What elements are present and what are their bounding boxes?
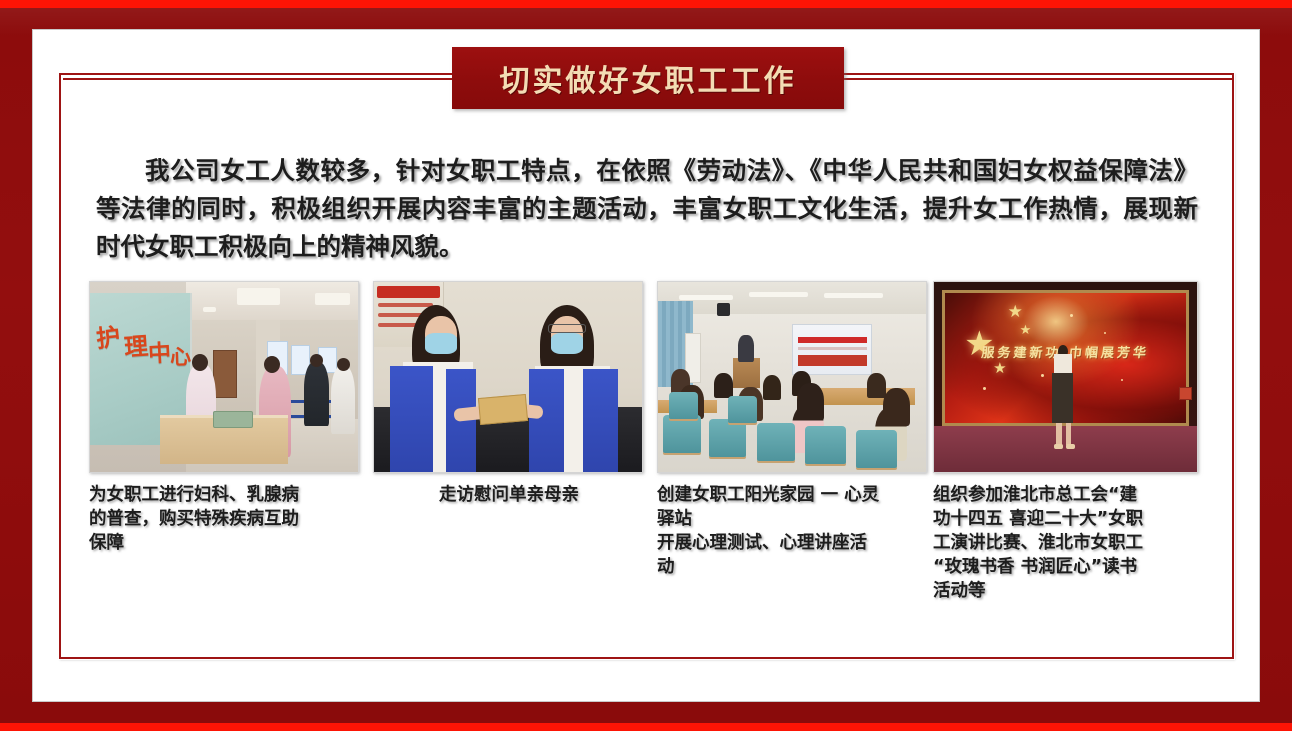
attendee <box>867 373 886 398</box>
chair <box>856 430 896 468</box>
screen-line <box>798 347 867 349</box>
chair <box>757 423 795 461</box>
ceiling-light <box>315 293 350 304</box>
photo-speech-contest: ★ ★ ★ ★ 服务建新功 巾帼展芳华 <box>933 281 1198 473</box>
slide-root: 切实做好女职工工作 我公司女工人数较多，针对女职工特点，在依照《劳动法》、《中华… <box>0 0 1292 731</box>
person-right-vest <box>529 369 564 472</box>
scene-text-char-4: 心 <box>169 340 191 371</box>
door <box>213 350 237 398</box>
scene-text-char-3: 中 <box>147 334 172 369</box>
photo-health-screening: 护 理 中 心 <box>89 281 359 473</box>
attendee <box>763 375 782 400</box>
photo-psychology-lecture <box>657 281 927 473</box>
ceiling-light <box>749 292 808 297</box>
ceiling-light <box>679 295 733 300</box>
star-icon: ★ <box>1008 303 1023 320</box>
chair <box>805 426 845 464</box>
sparkle <box>983 387 986 390</box>
banner-red-strip <box>377 286 440 298</box>
photo-caption-3: 创建女职工阳光家园 一 心灵 驿站 开展心理测试、心理讲座活 动 <box>657 483 929 579</box>
attendee <box>714 373 733 398</box>
banner-line <box>378 303 433 307</box>
performer-shoe <box>1054 444 1063 450</box>
scene-text-char-2: 理 <box>123 326 149 363</box>
photo-single-mothers-visit <box>373 281 643 473</box>
photo-cell-3: 创建女职工阳光家园 一 心灵 驿站 开展心理测试、心理讲座活 动 <box>657 281 929 579</box>
star-icon: ★ <box>1020 323 1032 336</box>
performer-leg <box>1056 423 1061 446</box>
photo-caption-1: 为女职工进行妇科、乳腺病 的普查，购买特殊疾病互助 保障 <box>89 483 361 555</box>
banner-line <box>378 313 423 317</box>
screen-title-band <box>798 337 867 343</box>
person-right-mask <box>551 333 583 354</box>
photo-gallery: 护 理 中 心 为女职工进行妇科、乳腺病 的普查，购买特殊疾病互助 保障 <box>0 0 1292 731</box>
ceiling-light <box>203 307 216 313</box>
performer-shoe <box>1066 444 1075 450</box>
staff <box>331 366 355 434</box>
bystander <box>304 362 328 427</box>
scene-text-char-1: 护 <box>94 317 122 354</box>
performer-leg <box>1066 423 1071 446</box>
person-right-glasses <box>548 324 586 334</box>
wall-speaker-icon <box>717 303 730 316</box>
chair <box>663 415 701 453</box>
photo-caption-4: 组织参加淮北市总工会“建 功十四五 喜迎二十大”女职 工演讲比赛、淮北市女职工 … <box>933 483 1205 603</box>
ceiling-light <box>824 293 883 298</box>
photo-cell-1: 护 理 中 心 为女职工进行妇科、乳腺病 的普查，购买特殊疾病互助 保障 <box>89 281 361 555</box>
person-right-vest <box>583 369 618 472</box>
sparkle <box>1121 379 1123 381</box>
star-icon: ★ <box>993 361 1006 376</box>
person-left-mask <box>425 333 457 354</box>
chair <box>728 396 757 423</box>
screen-image-band <box>798 355 867 366</box>
photo-cell-4: ★ ★ ★ ★ 服务建新功 巾帼展芳华 <box>933 281 1205 603</box>
projection-screen <box>792 324 872 375</box>
chair <box>669 392 698 419</box>
ceiling-light <box>237 288 280 305</box>
sparkle <box>1070 314 1073 317</box>
photo-cell-2: 走访慰问单亲母亲 <box>373 281 645 507</box>
sparkle <box>1041 374 1044 377</box>
performer-skirt <box>1052 373 1073 422</box>
person-left-vest <box>390 366 433 472</box>
speaker-person <box>738 335 754 362</box>
chair <box>709 419 747 457</box>
podium <box>733 358 760 388</box>
envelope <box>477 394 527 425</box>
stage-side-screen <box>1179 387 1192 400</box>
sparkle <box>1104 332 1106 334</box>
document-tray <box>213 411 253 428</box>
photo-caption-2: 走访慰问单亲母亲 <box>373 483 645 507</box>
